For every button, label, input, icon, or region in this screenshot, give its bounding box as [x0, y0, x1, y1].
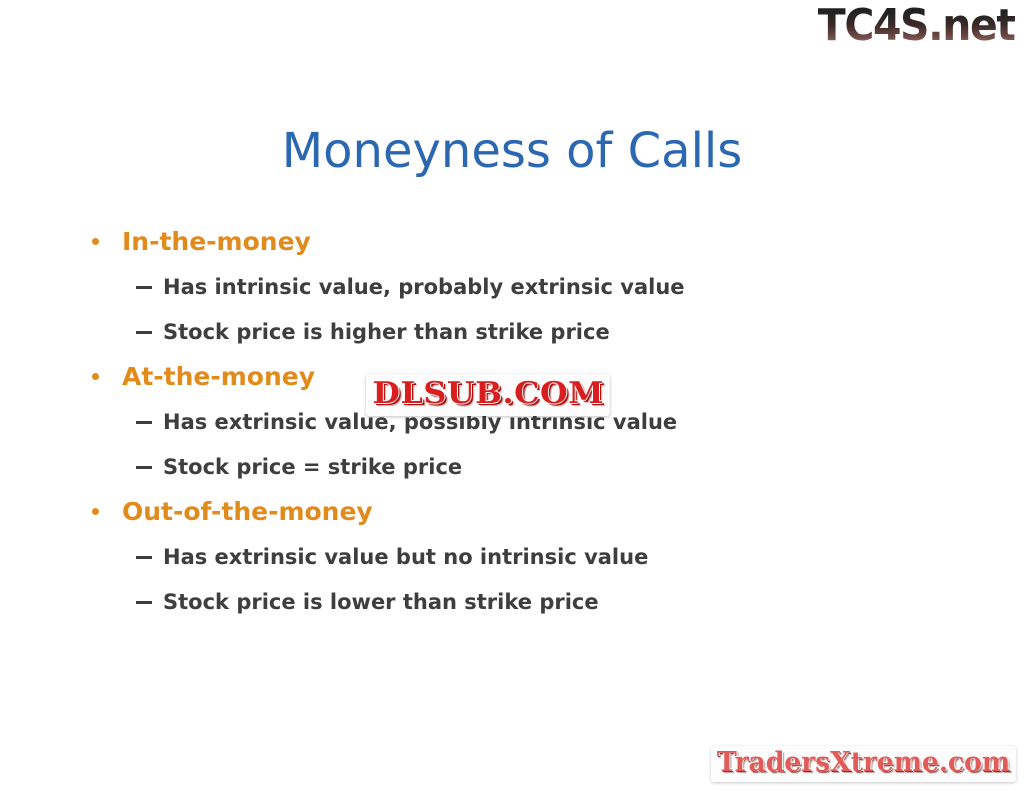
- dash-icon: [136, 556, 152, 559]
- tradersxtreme-logo: TradersXtreme.com: [711, 746, 1016, 782]
- dash-icon: [136, 331, 152, 334]
- bullet-group-out-of-the-money: Out-of-the-money Has extrinsic value but…: [0, 494, 1024, 629]
- bullet-heading-label: At-the-money: [122, 362, 315, 391]
- sub-bullet-label: Stock price is lower than strike price: [163, 590, 599, 614]
- bullet-group-in-the-money: In-the-money Has intrinsic value, probab…: [0, 224, 1024, 359]
- bullet-heading: In-the-money: [0, 224, 1024, 269]
- dlsub-watermark: DLSUB.COM: [366, 374, 610, 416]
- dash-icon: [136, 286, 152, 289]
- sub-bullet-item: Has extrinsic value but no intrinsic val…: [0, 539, 1024, 584]
- sub-bullet-item: Stock price is higher than strike price: [0, 314, 1024, 359]
- tc4s-logo: TC4S.net: [818, 2, 1015, 50]
- page-title: Moneyness of Calls: [0, 122, 1024, 180]
- bullet-heading-label: Out-of-the-money: [122, 497, 373, 526]
- dash-icon: [136, 601, 152, 604]
- bullet-heading-label: In-the-money: [122, 227, 311, 256]
- sub-bullet-label: Has intrinsic value, probably extrinsic …: [163, 275, 685, 299]
- sub-bullet-item: Has intrinsic value, probably extrinsic …: [0, 269, 1024, 314]
- presentation-slide: TC4S.net Moneyness of Calls In-the-money…: [0, 0, 1024, 791]
- sub-bullet-label: Stock price is higher than strike price: [163, 320, 610, 344]
- bullet-list: In-the-money Has intrinsic value, probab…: [0, 224, 1024, 629]
- bullet-heading: Out-of-the-money: [0, 494, 1024, 539]
- sub-bullet-label: Has extrinsic value but no intrinsic val…: [163, 545, 648, 569]
- sub-bullet-item: Stock price = strike price: [0, 449, 1024, 494]
- bullet-dot-icon: [92, 508, 99, 515]
- bullet-dot-icon: [92, 373, 99, 380]
- sub-bullet-label: Stock price = strike price: [163, 455, 462, 479]
- sub-bullet-item: Stock price is lower than strike price: [0, 584, 1024, 629]
- dash-icon: [136, 466, 152, 469]
- dash-icon: [136, 421, 152, 424]
- bullet-dot-icon: [92, 238, 99, 245]
